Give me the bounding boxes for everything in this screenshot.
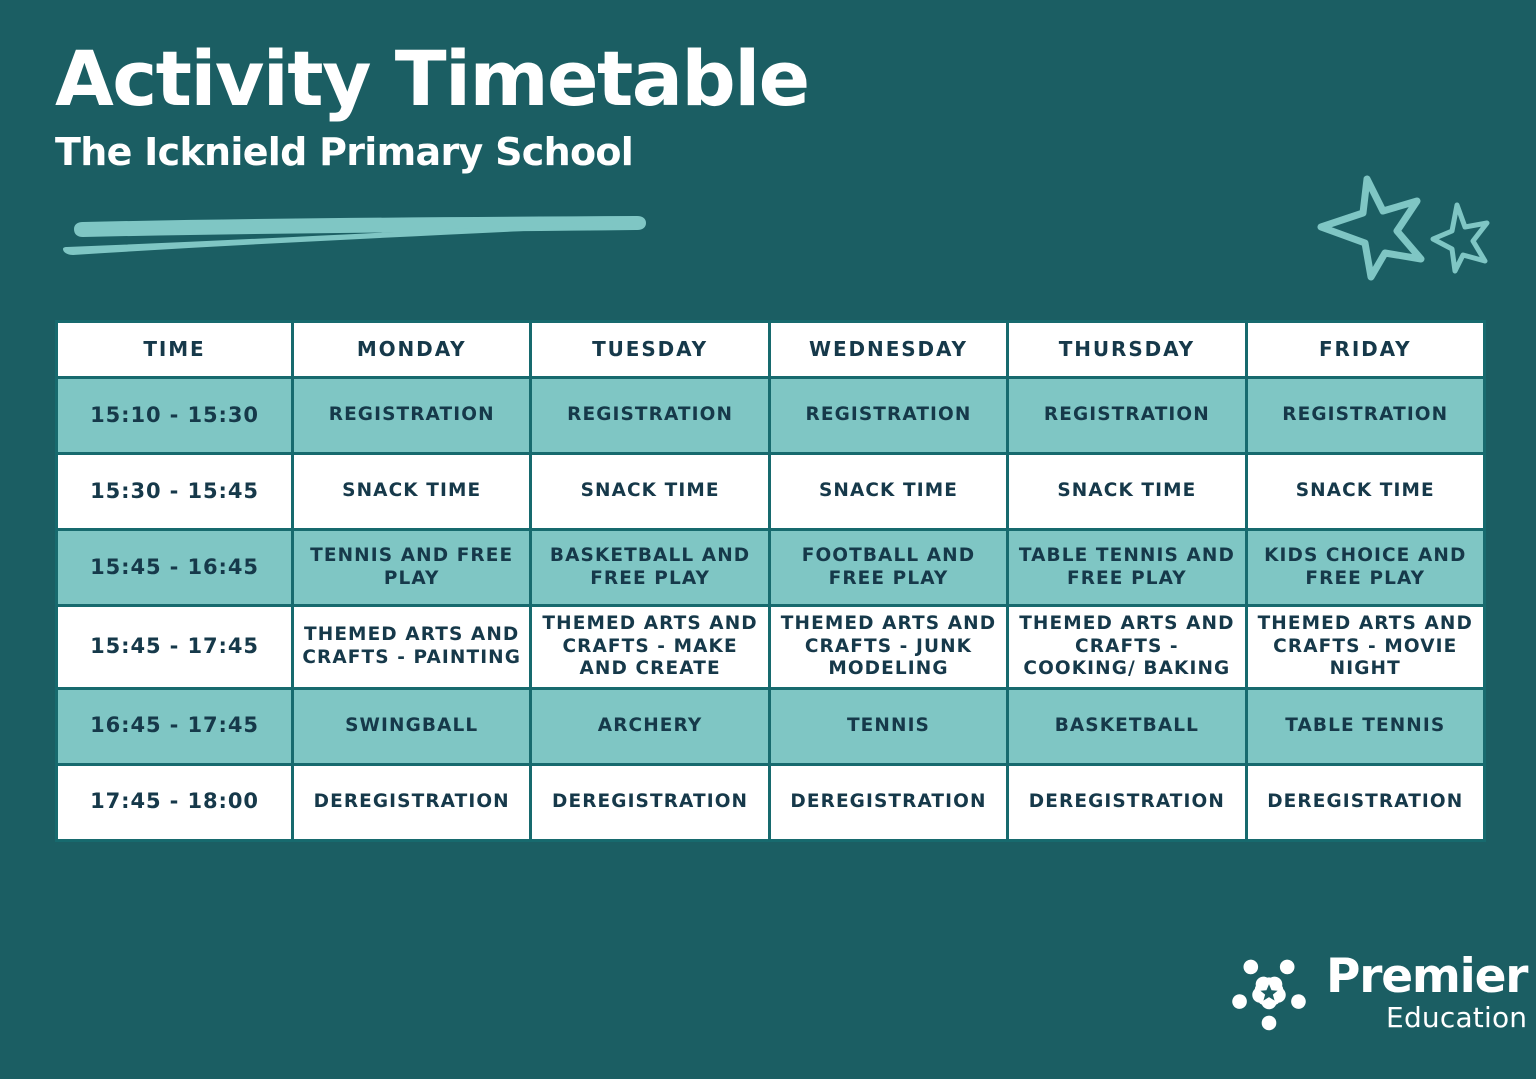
table-row: 15:45 - 16:45 TENNIS AND FREE PLAY BASKE… (57, 530, 1485, 606)
activity-cell-wednesday: FOOTBALL AND FREE PLAY (769, 530, 1007, 606)
activity-cell-thursday: REGISTRATION (1008, 378, 1246, 454)
activity-cell-wednesday: SNACK TIME (769, 454, 1007, 530)
activity-cell-friday: DEREGISTRATION (1246, 764, 1484, 840)
activity-cell-friday: KIDS CHOICE AND FREE PLAY (1246, 530, 1484, 606)
activity-cell-monday: SNACK TIME (293, 454, 531, 530)
activity-cell-thursday: THEMED ARTS AND CRAFTS - COOKING/ BAKING (1008, 606, 1246, 689)
table-row: 16:45 - 17:45 SWINGBALL ARCHERY TENNIS B… (57, 688, 1485, 764)
logo-brand-name: Premier (1326, 953, 1527, 1000)
activity-cell-wednesday: TENNIS (769, 688, 1007, 764)
time-slot: 15:30 - 15:45 (57, 454, 293, 530)
activity-cell-wednesday: REGISTRATION (769, 378, 1007, 454)
activity-cell-monday: SWINGBALL (293, 688, 531, 764)
column-header-monday: MONDAY (293, 322, 531, 378)
activity-cell-friday: REGISTRATION (1246, 378, 1484, 454)
time-slot: 17:45 - 18:00 (57, 764, 293, 840)
activity-cell-tuesday: BASKETBALL AND FREE PLAY (531, 530, 769, 606)
activity-cell-tuesday: ARCHERY (531, 688, 769, 764)
activity-cell-thursday: TABLE TENNIS AND FREE PLAY (1008, 530, 1246, 606)
underline-swoosh-icon (61, 212, 651, 256)
column-header-friday: FRIDAY (1246, 322, 1484, 378)
timetable-container: TIME MONDAY TUESDAY WEDNESDAY THURSDAY F… (55, 320, 1483, 842)
activity-cell-tuesday: DEREGISTRATION (531, 764, 769, 840)
activity-cell-tuesday: SNACK TIME (531, 454, 769, 530)
activity-cell-friday: THEMED ARTS AND CRAFTS - MOVIE NIGHT (1246, 606, 1484, 689)
activity-cell-thursday: DEREGISTRATION (1008, 764, 1246, 840)
activity-cell-friday: TABLE TENNIS (1246, 688, 1484, 764)
premier-education-logo: Premier Education (1226, 944, 1484, 1040)
time-slot: 15:10 - 15:30 (57, 378, 293, 454)
page-title: Activity Timetable (55, 42, 955, 116)
activity-cell-friday: SNACK TIME (1246, 454, 1484, 530)
table-row: 17:45 - 18:00 DEREGISTRATION DEREGISTRAT… (57, 764, 1485, 840)
table-row: 15:45 - 17:45 THEMED ARTS AND CRAFTS - P… (57, 606, 1485, 689)
activity-cell-thursday: SNACK TIME (1008, 454, 1246, 530)
page-header: Activity Timetable The Icknield Primary … (55, 42, 955, 174)
activity-cell-monday: THEMED ARTS AND CRAFTS - PAINTING (293, 606, 531, 689)
star-small-icon (1433, 205, 1487, 271)
column-header-time: TIME (57, 322, 293, 378)
table-header-row: TIME MONDAY TUESDAY WEDNESDAY THURSDAY F… (57, 322, 1485, 378)
logo-tagline: Education (1386, 1004, 1527, 1032)
time-slot: 15:45 - 16:45 (57, 530, 293, 606)
decorative-stars (1305, 165, 1505, 285)
column-header-thursday: THURSDAY (1008, 322, 1246, 378)
star-large-icon (1321, 179, 1421, 277)
activity-cell-tuesday: THEMED ARTS AND CRAFTS - MAKE AND CREATE (531, 606, 769, 689)
premier-people-star-icon (1226, 949, 1312, 1035)
activity-cell-wednesday: THEMED ARTS AND CRAFTS - JUNK MODELING (769, 606, 1007, 689)
table-row: 15:30 - 15:45 SNACK TIME SNACK TIME SNAC… (57, 454, 1485, 530)
column-header-tuesday: TUESDAY (531, 322, 769, 378)
time-slot: 15:45 - 17:45 (57, 606, 293, 689)
page-subtitle: The Icknield Primary School (55, 130, 955, 174)
activity-cell-tuesday: REGISTRATION (531, 378, 769, 454)
activity-timetable: TIME MONDAY TUESDAY WEDNESDAY THURSDAY F… (55, 320, 1486, 842)
activity-cell-monday: REGISTRATION (293, 378, 531, 454)
logo-wordmark: Premier Education (1326, 953, 1527, 1032)
activity-cell-thursday: BASKETBALL (1008, 688, 1246, 764)
activity-cell-wednesday: DEREGISTRATION (769, 764, 1007, 840)
column-header-wednesday: WEDNESDAY (769, 322, 1007, 378)
activity-cell-monday: DEREGISTRATION (293, 764, 531, 840)
time-slot: 16:45 - 17:45 (57, 688, 293, 764)
table-row: 15:10 - 15:30 REGISTRATION REGISTRATION … (57, 378, 1485, 454)
activity-cell-monday: TENNIS AND FREE PLAY (293, 530, 531, 606)
